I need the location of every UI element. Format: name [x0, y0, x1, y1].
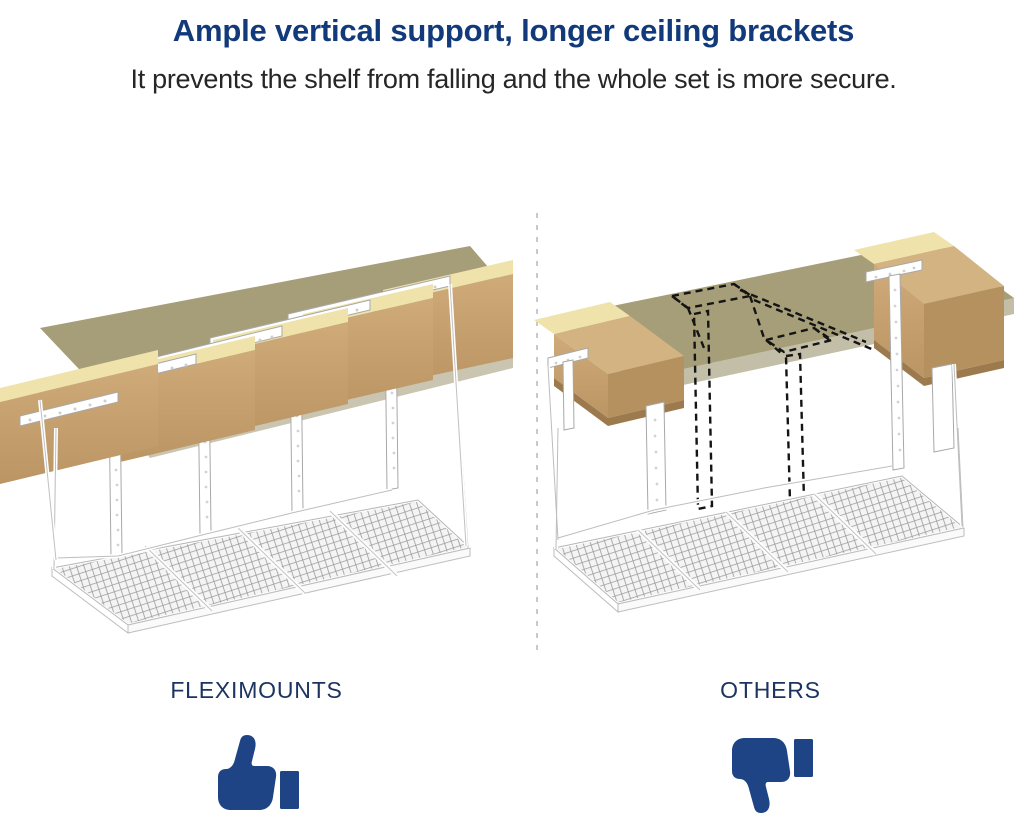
others-brand-block: OTHERS — [514, 676, 1027, 816]
fleximounts-rack-illustration — [0, 128, 513, 648]
joist-group-right — [854, 232, 1004, 470]
thumbs-down-icon — [514, 732, 1027, 816]
comparison-area: FLEXIMOUNTS — [0, 128, 1027, 826]
thumbs-up-icon — [0, 732, 513, 816]
brand-label-fleximounts: FLEXIMOUNTS — [0, 676, 513, 704]
joist-group-1 — [0, 350, 158, 484]
comparison-panel-fleximounts: FLEXIMOUNTS — [0, 128, 513, 826]
page-title: Ample vertical support, longer ceiling b… — [0, 0, 1027, 52]
brand-label-others: OTHERS — [514, 676, 1027, 704]
others-rack-illustration — [514, 128, 1027, 648]
header: Ample vertical support, longer ceiling b… — [0, 0, 1027, 118]
comparison-panel-others: OTHERS — [514, 128, 1027, 826]
comparison-infographic: Ample vertical support, longer ceiling b… — [0, 0, 1027, 826]
page-subtitle: It prevents the shelf from falling and t… — [0, 52, 1027, 96]
fleximounts-brand-block: FLEXIMOUNTS — [0, 676, 513, 816]
